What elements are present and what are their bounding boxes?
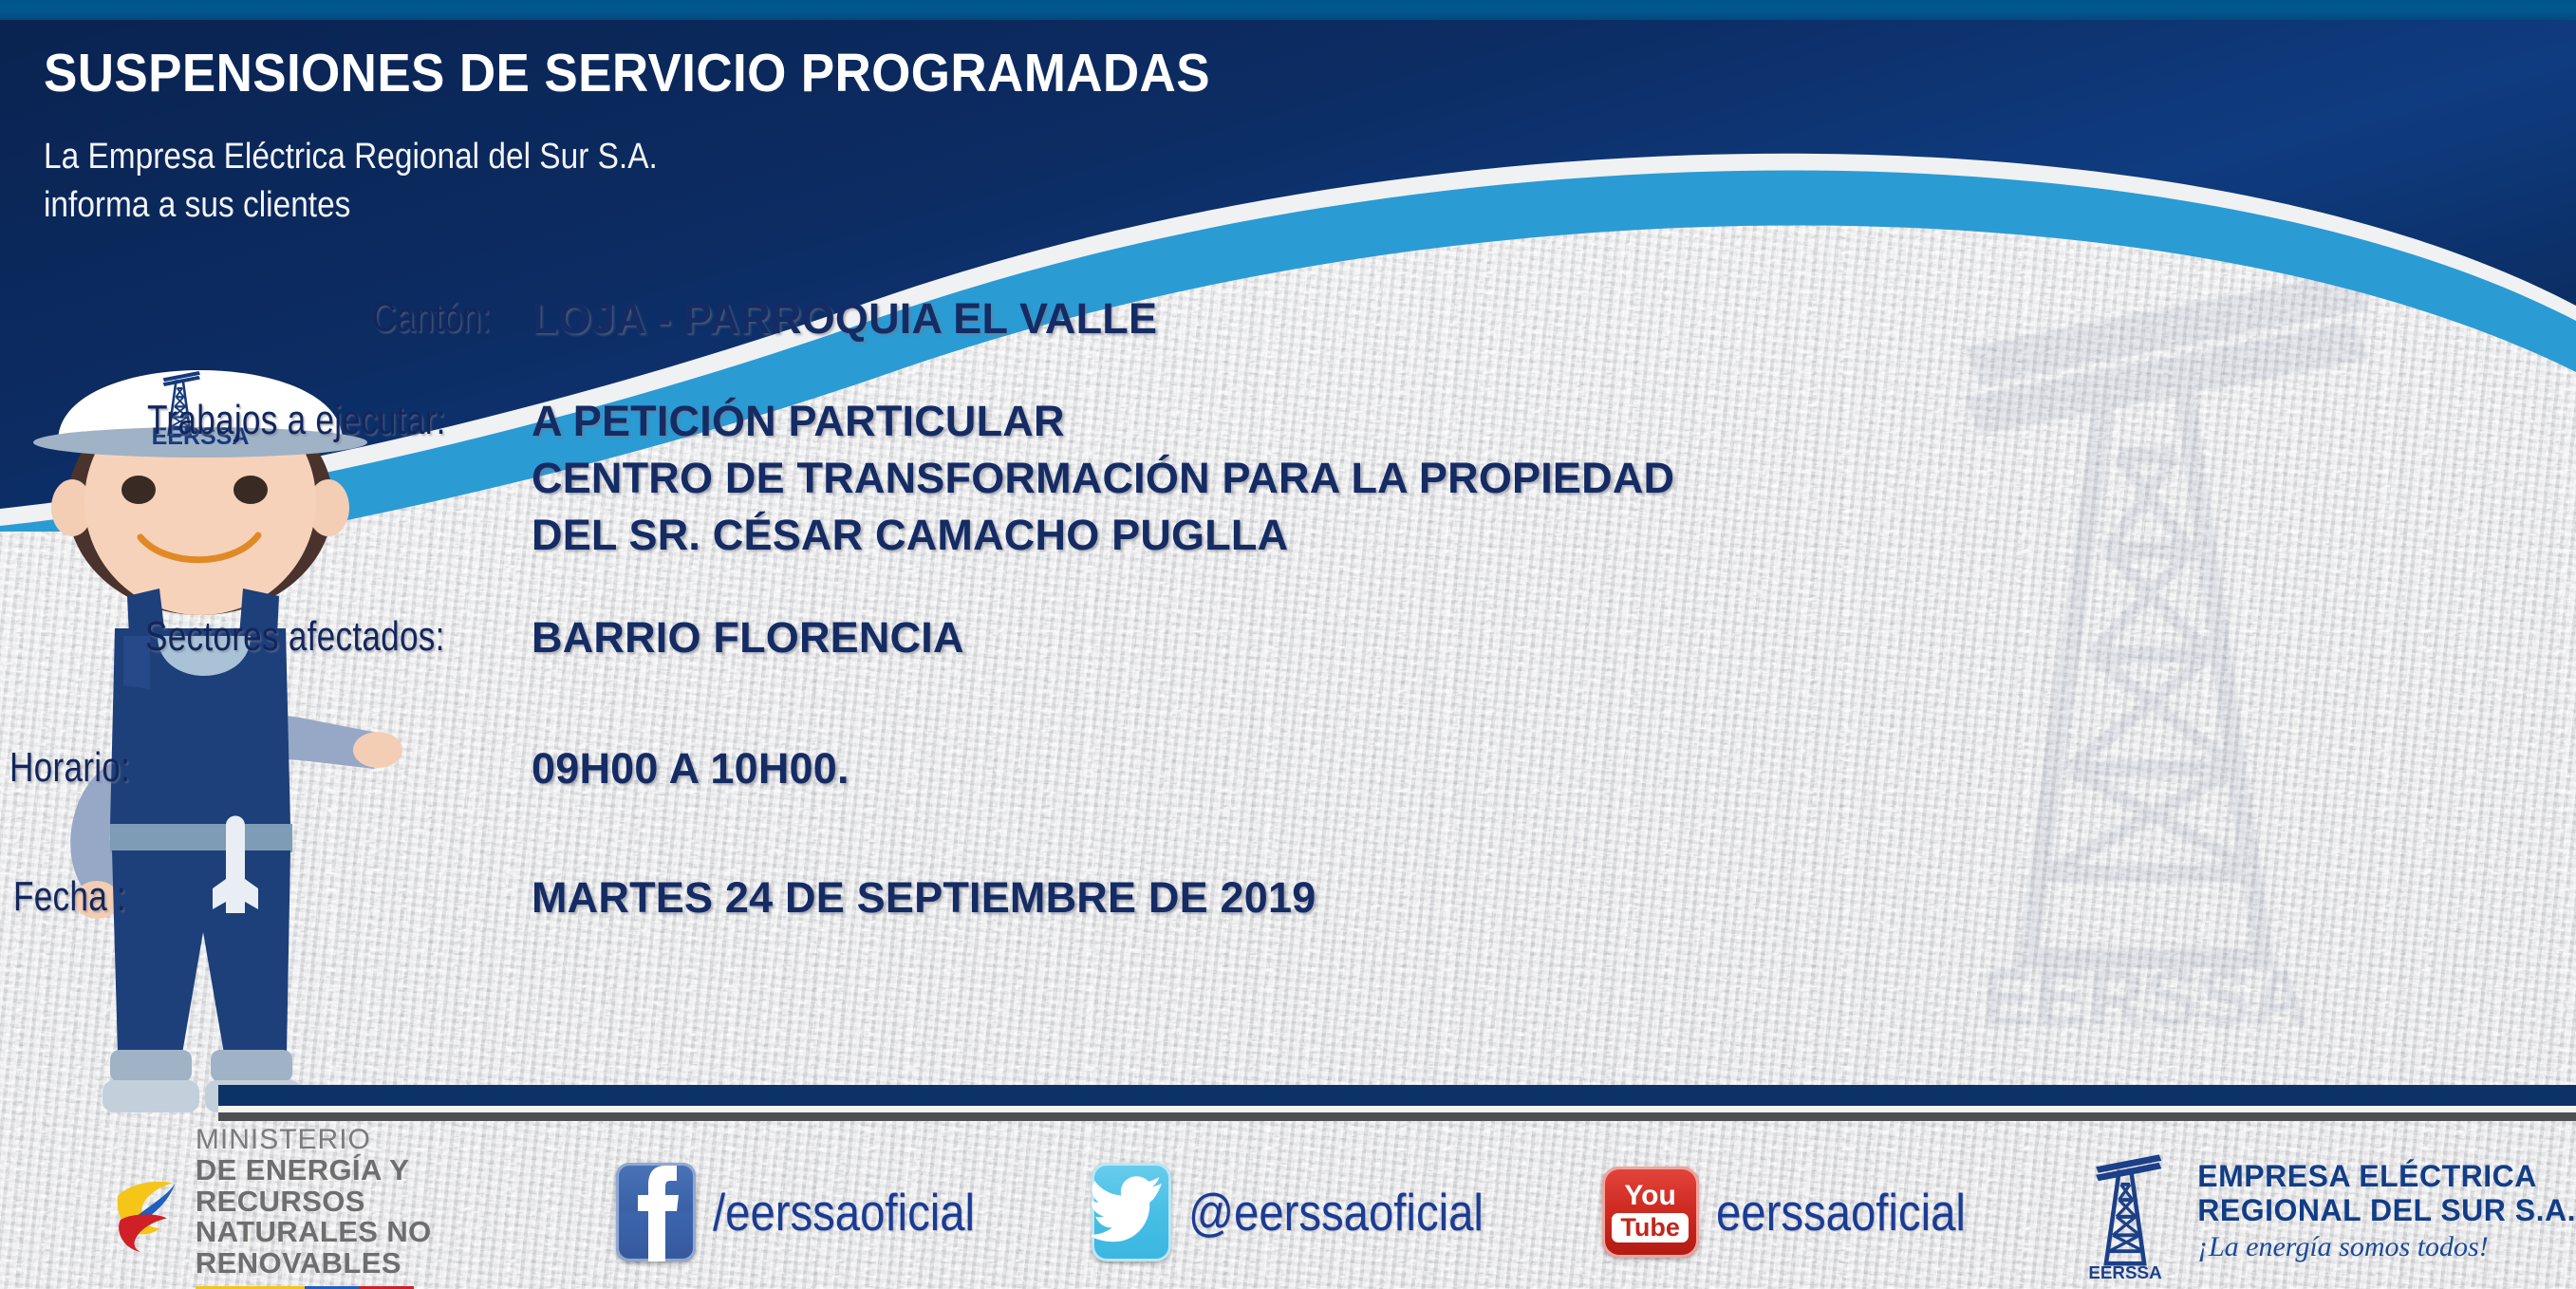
youtube-handle: eerssaoficial xyxy=(1716,1182,1966,1242)
ministry-swoosh-icon xyxy=(112,1156,188,1268)
field-fecha: Fecha : MARTES 24 DE SEPTIEMBRE DE 2019 xyxy=(0,873,2576,923)
ministry-text-block: MINISTERIO DE ENERGÍA Y RECURSOS NATURAL… xyxy=(196,1125,529,1289)
field-value: DEL SR. CÉSAR CAMACHO PUGLLA xyxy=(532,511,1288,559)
ministry-line3: NATURALES NO RENOVABLES xyxy=(196,1217,529,1280)
field-value: MARTES 24 DE SEPTIEMBRE DE 2019 xyxy=(532,873,1316,922)
field-label: Fecha : xyxy=(13,873,126,921)
notice-fields: Cantón: LOJA - PARROQUIA EL VALLE Trabaj… xyxy=(0,294,2576,923)
brand-line1: EMPRESA ELÉCTRICA xyxy=(2197,1160,2576,1193)
ministry-logo-block: MINISTERIO DE ENERGÍA Y RECURSOS NATURAL… xyxy=(112,1125,529,1289)
brand-slogan: ¡La energía somos todos! xyxy=(2197,1231,2576,1263)
youtube-badge-top: You xyxy=(1624,1182,1675,1210)
youtube-link[interactable]: You Tube eerssaoficial xyxy=(1602,1167,2007,1258)
field-trabajos-line3: DEL SR. CÉSAR CAMACHO PUGLLA xyxy=(0,511,2576,560)
field-label: Trabajos a ejecutar: xyxy=(147,397,446,444)
youtube-badge-bottom: Tube xyxy=(1612,1213,1689,1242)
footer-divider-white xyxy=(218,1106,2576,1112)
field-value: LOJA - PARROQUIA EL VALLE xyxy=(532,294,1157,343)
twitter-icon[interactable] xyxy=(1092,1163,1171,1261)
facebook-handle: /eerssaoficial xyxy=(713,1182,975,1242)
brand-line2: REGIONAL DEL SUR S.A. xyxy=(2197,1194,2576,1227)
facebook-icon[interactable] xyxy=(616,1163,696,1261)
svg-text:EERSSA: EERSSA xyxy=(2089,1261,2163,1280)
field-sectores: Sectores afectados: BARRIO FLORENCIA xyxy=(0,613,2576,663)
field-label: Horario: xyxy=(9,744,130,792)
field-value: CENTRO DE TRANSFORMACIÓN PARA LA PROPIED… xyxy=(532,454,1674,502)
field-value: 09H00 A 10H00. xyxy=(532,744,849,793)
header-subtitle: La Empresa Eléctrica Regional del Sur S.… xyxy=(44,133,658,229)
svg-text:EERSSA: EERSSA xyxy=(1981,953,2308,1042)
page-title: SUSPENSIONES DE SERVICIO PROGRAMADAS xyxy=(44,42,1210,104)
field-horario: Horario: 09H00 A 10H00. xyxy=(0,744,2576,794)
field-canton: Cantón: LOJA - PARROQUIA EL VALLE xyxy=(0,294,2576,344)
field-value: A PETICIÓN PARTICULAR xyxy=(532,397,1065,445)
field-label: Cantón: xyxy=(372,294,491,342)
field-label: Sectores afectados: xyxy=(145,613,445,661)
top-accent-strip xyxy=(0,0,2576,20)
eerssa-brand-block: EERSSA EMPRESA ELÉCTRICA REGIONAL DEL SU… xyxy=(2064,1143,2576,1281)
youtube-icon[interactable]: You Tube xyxy=(1602,1167,1699,1258)
twitter-handle: @eerssaoficial xyxy=(1188,1182,1484,1242)
footer-divider-gray xyxy=(218,1112,2576,1121)
field-trabajos-line2: CENTRO DE TRANSFORMACIÓN PARA LA PROPIED… xyxy=(0,454,2576,503)
field-value: BARRIO FLORENCIA xyxy=(532,613,964,662)
twitter-link[interactable]: @eerssaoficial xyxy=(1092,1163,1532,1261)
field-trabajos: Trabajos a ejecutar: A PETICIÓN PARTICUL… xyxy=(0,397,2576,446)
ministry-line1: MINISTERIO xyxy=(196,1125,529,1155)
poster-root: EERSSA SUSPENSIONES DE SERVICIO PROGRAMA… xyxy=(0,0,2576,1289)
eerssa-tower-icon: EERSSA xyxy=(2064,1143,2186,1281)
eerssa-brand-text: EMPRESA ELÉCTRICA REGIONAL DEL SUR S.A. … xyxy=(2197,1160,2576,1262)
facebook-link[interactable]: /eerssaoficial xyxy=(616,1163,1017,1261)
footer-divider-navy xyxy=(218,1085,2576,1106)
footer-bar: MINISTERIO DE ENERGÍA Y RECURSOS NATURAL… xyxy=(0,1134,2576,1289)
ministry-line2: DE ENERGÍA Y RECURSOS xyxy=(196,1155,529,1218)
